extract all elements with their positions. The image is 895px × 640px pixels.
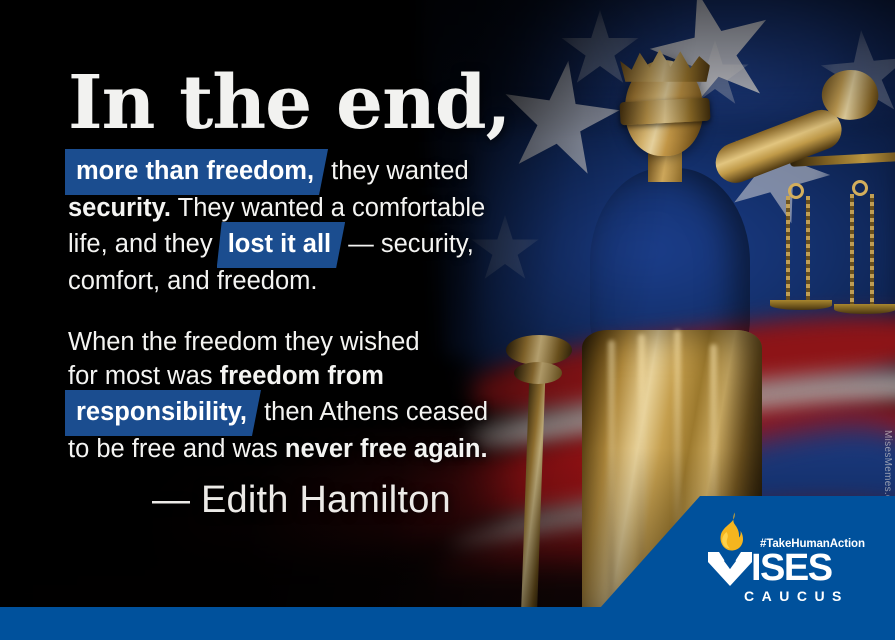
bottom-bar [0,607,895,640]
quote-paragraph-1: more than freedom, they wanted security.… [68,152,568,298]
quote-text: for most was [68,362,220,390]
quote-text: — security, [348,230,474,258]
mises-letters: ISES [751,552,832,584]
quote-paragraph-2: When the freedom they wished for most wa… [68,325,568,466]
quote-text: to be free and was [68,435,285,463]
mises-m-chevron-icon [708,552,752,586]
mises-caucus-logo: #TakeHumanAction ISES CAUCUS [708,510,886,600]
highlight-lost-it-all: lost it all [221,225,340,264]
mises-wordmark: ISES [708,552,832,586]
attribution: — Edith Hamilton [152,479,451,522]
quote-text: When the freedom they wished [68,328,420,356]
quote-text: comfort, and freedom. [68,267,317,295]
quote-body: more than freedom, they wanted security.… [68,152,568,466]
quote-text: they wanted [324,157,469,185]
quote-bold-freedom-from: freedom from [220,362,384,390]
highlight-responsibility: responsibility, [69,393,256,432]
caucus-subtitle: CAUCUS [744,588,849,604]
quote-text: life, and they [68,230,213,258]
quote-text: then Athens ceased [257,398,488,426]
paragraph-spacer [68,298,568,325]
quote-bold-never-free-again: never free again. [285,435,488,463]
quote-poster: In the end, more than freedom, they want… [0,0,895,640]
headline: In the end, [68,66,510,140]
highlight-more-than-freedom: more than freedom, [69,152,323,191]
quote-text: They wanted a comfortable [171,194,485,222]
quote-bold-security: security. [68,194,171,222]
